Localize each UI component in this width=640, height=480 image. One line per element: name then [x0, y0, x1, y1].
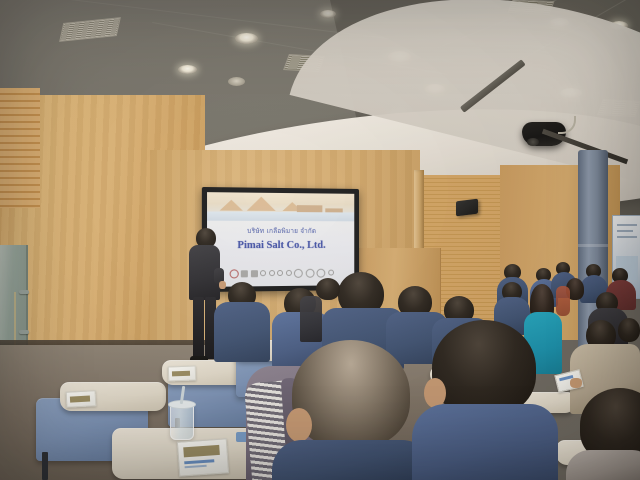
downlight-icon: [178, 65, 197, 74]
wood-slat-panel-left: [0, 88, 40, 208]
projector-lens-icon: [527, 138, 539, 146]
audience-torso-foreground: [566, 450, 640, 480]
handout-paper[interactable]: [168, 366, 197, 382]
logo-mark-icon: [277, 270, 283, 276]
logo-mark-icon: [260, 270, 266, 276]
logo-mark-icon: [294, 268, 303, 277]
logo-mark-icon: [250, 270, 257, 277]
audience-head-foreground: [432, 320, 536, 416]
chair-leg: [42, 452, 48, 480]
downlight-icon: [228, 77, 245, 86]
logo-mark-icon: [241, 270, 248, 277]
audience-torso: [214, 302, 270, 362]
audience-torso-foreground: [272, 440, 432, 480]
downlight-icon: [320, 10, 336, 18]
audience-torso: [300, 296, 322, 342]
slide-english-title: Pimai Salt Co., Ltd.: [207, 240, 354, 251]
logo-mark-icon: [317, 268, 326, 277]
fixture-bracket: [19, 290, 29, 294]
logo-mark-icon: [305, 268, 314, 277]
presenter-leg: [193, 297, 204, 359]
projection-screen: บริษัท เกลือพิมาย จำกัด Pimai Salt Co., …: [202, 187, 359, 292]
handout-paper[interactable]: [66, 390, 97, 408]
handout-paper[interactable]: [177, 438, 229, 476]
slide-thai-title: บริษัท เกลือพิมาย จำกัด: [207, 226, 354, 236]
logo-mark-icon: [229, 269, 238, 278]
logo-mark-icon: [328, 270, 334, 276]
audience-torso-foreground: [412, 404, 558, 480]
downlight-icon: [235, 33, 258, 44]
column-joint-band: [578, 244, 608, 247]
audience-ear: [286, 408, 312, 442]
audience-hand: [570, 378, 582, 388]
audience-head: [316, 278, 340, 300]
logo-mark-icon: [269, 270, 275, 276]
plastic-cup[interactable]: [170, 404, 194, 440]
wall-speaker-icon: [456, 199, 478, 217]
screen-image-area: บริษัท เกลือพิมาย จำกัด Pimai Salt Co., …: [207, 192, 354, 287]
audience-hair-accent: [556, 286, 570, 316]
seminar-room-photo: บริษัท เกลือพิมาย จำกัด Pimai Salt Co., …: [0, 0, 640, 480]
fixture-bracket: [19, 330, 29, 334]
presenter-hand: [219, 281, 226, 289]
logo-mark-icon: [285, 270, 291, 276]
slide-banner-photo: [207, 192, 354, 221]
audience-head: [618, 318, 640, 342]
